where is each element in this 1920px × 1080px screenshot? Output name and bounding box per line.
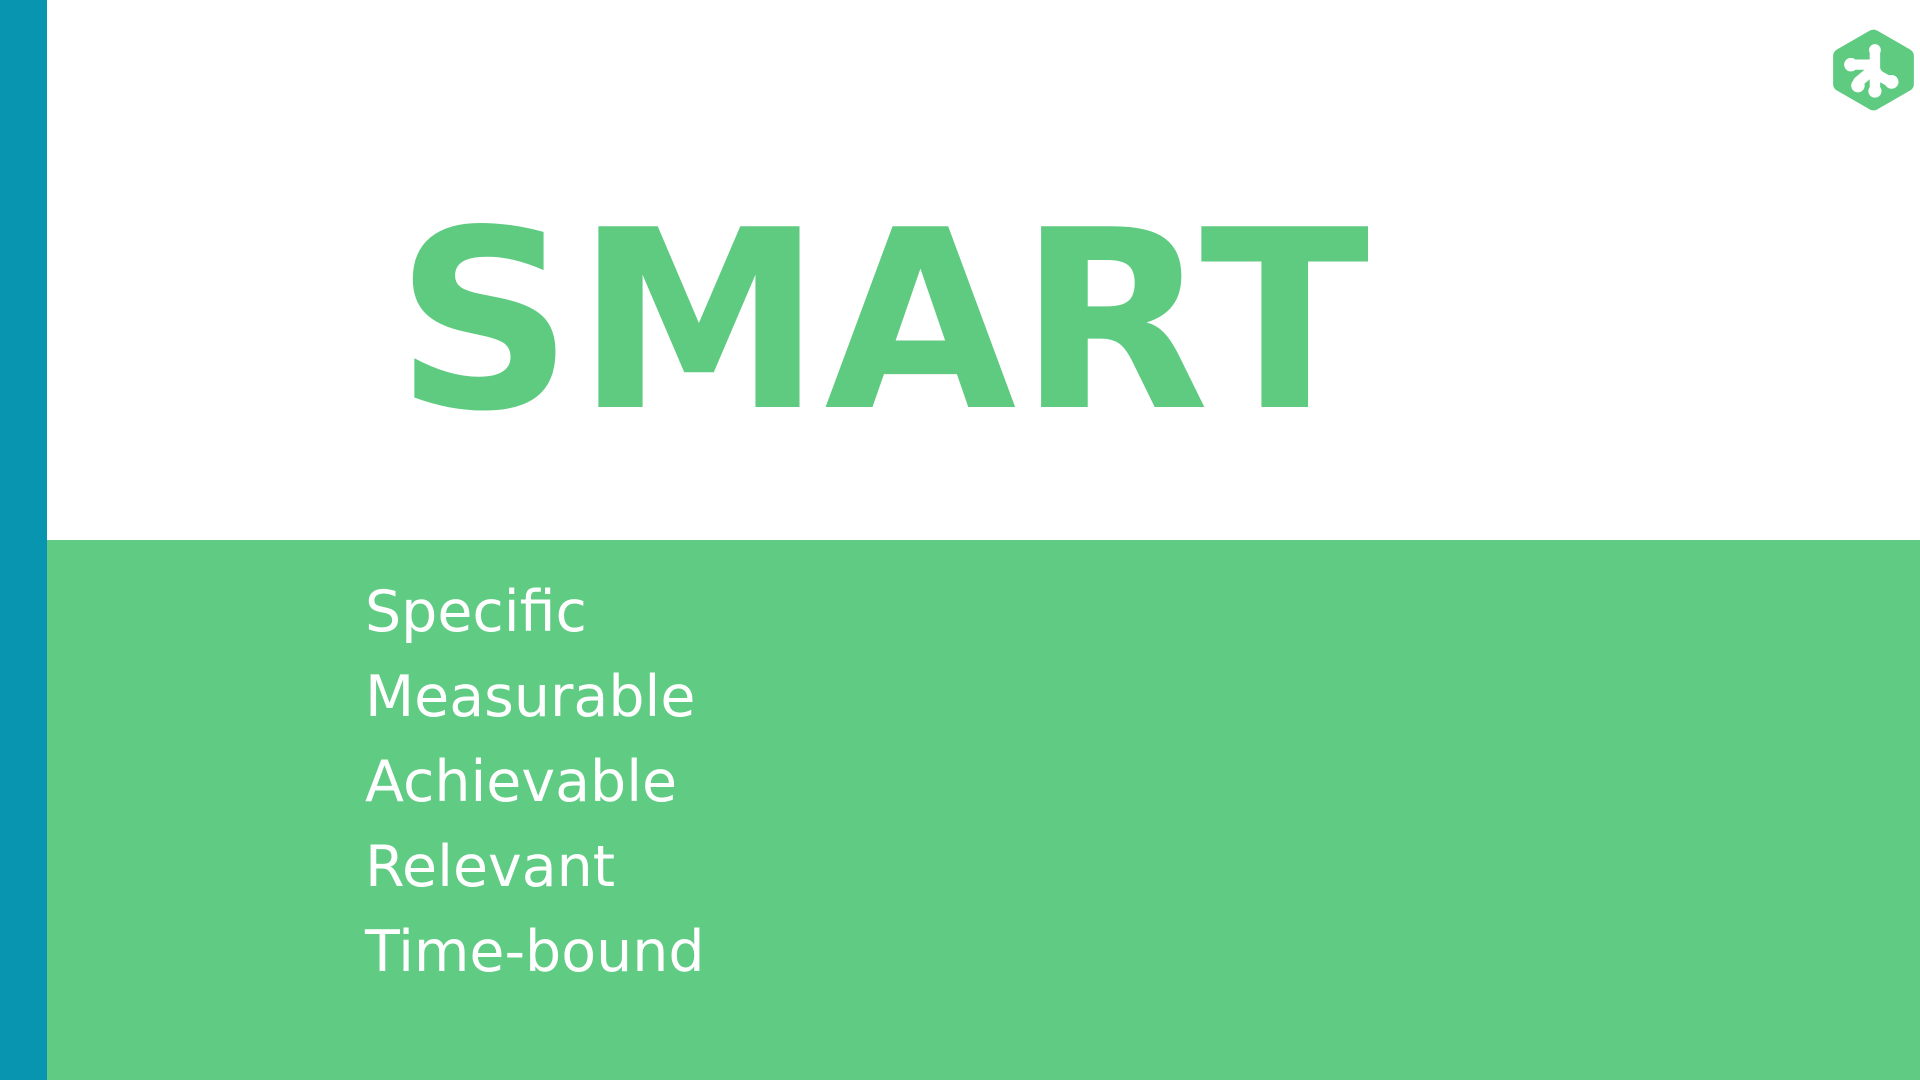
list-item: Achievable	[365, 740, 705, 825]
list-item: Measurable	[365, 655, 705, 740]
smart-goals-slide: SMART Specific M	[0, 0, 1920, 1080]
list-panel: Specific Measurable Achievable Relevant …	[47, 540, 1920, 1080]
page-title: SMART	[395, 198, 1371, 446]
treehouse-logo	[1826, 28, 1920, 112]
title-panel: SMART	[47, 0, 1920, 540]
list-item: Time-bound	[365, 910, 705, 995]
list-item: Relevant	[365, 825, 705, 910]
smart-criteria-list: Specific Measurable Achievable Relevant …	[365, 570, 705, 995]
list-item: Specific	[365, 570, 705, 655]
left-accent-bar	[0, 0, 47, 1080]
